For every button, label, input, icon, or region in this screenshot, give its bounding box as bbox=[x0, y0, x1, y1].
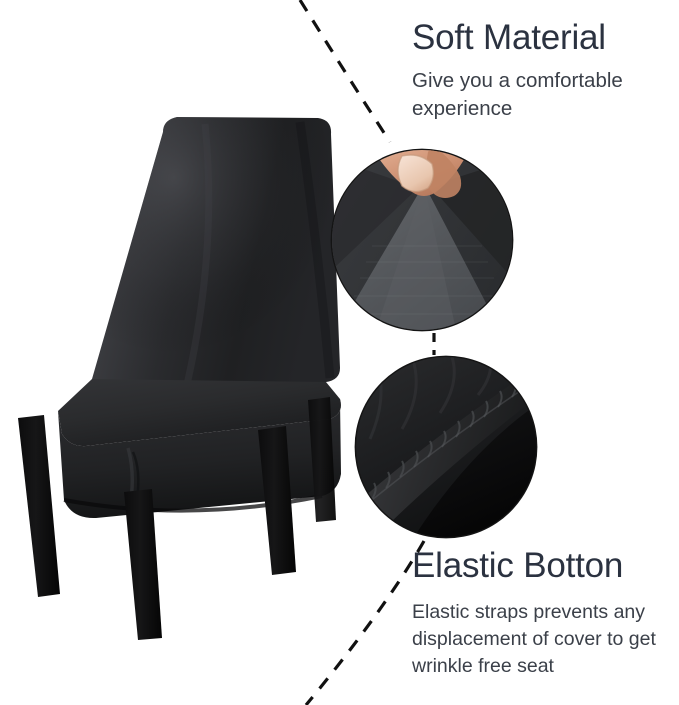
subline-elastic-botton: Elastic straps prevents any displacement… bbox=[412, 599, 674, 680]
callout-text-soft-material: Soft Material Give you a comfortable exp… bbox=[412, 18, 670, 122]
subline-soft-material: Give you a comfortable experience bbox=[412, 67, 670, 122]
headline-soft-material: Soft Material bbox=[412, 18, 670, 57]
product-feature-infographic: Soft Material Give you a comfortable exp… bbox=[0, 0, 679, 705]
text-layer: Soft Material Give you a comfortable exp… bbox=[0, 0, 679, 705]
headline-elastic-botton: Elastic Botton bbox=[412, 546, 674, 585]
callout-text-elastic-botton: Elastic Botton Elastic straps prevents a… bbox=[412, 546, 674, 680]
